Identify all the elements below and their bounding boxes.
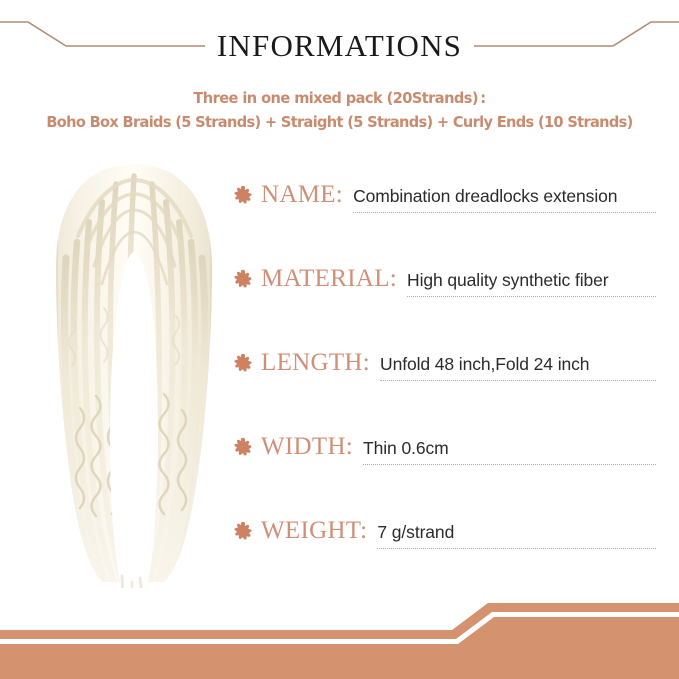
flower-bullet-icon (232, 352, 254, 374)
spec-label: MATERIAL: (261, 265, 397, 293)
spec-row-weight: WEIGHT: 7 g/strand (232, 516, 656, 600)
spec-row-length: LENGTH: Unfold 48 inch,Fold 24 inch (232, 348, 656, 432)
subtitle-line-2: Boho Box Braids (5 Strands) + Straight (… (20, 110, 658, 134)
spec-label: WEIGHT: (261, 517, 367, 545)
spec-value: Thin 0.6cm (363, 438, 449, 458)
specification-list: NAME: Combination dreadlocks extension M… (232, 180, 656, 600)
subtitle-block: Three in one mixed pack (20Strands) : Bo… (0, 86, 679, 134)
spec-value-underline: 7 g/strand (377, 522, 656, 549)
page-title: INFORMATIONS (0, 28, 679, 64)
spec-value: 7 g/strand (377, 522, 454, 542)
spec-row-material: MATERIAL: High quality synthetic fiber (232, 264, 656, 348)
spec-value-underline: High quality synthetic fiber (407, 270, 656, 297)
spec-label: NAME: (261, 181, 343, 209)
spec-value: Combination dreadlocks extension (353, 186, 617, 206)
spec-value: Unfold 48 inch,Fold 24 inch (380, 354, 589, 374)
spec-value-underline: Thin 0.6cm (363, 438, 656, 465)
spec-row-width: WIDTH: Thin 0.6cm (232, 432, 656, 516)
flower-bullet-icon (232, 520, 254, 542)
spec-value-underline: Combination dreadlocks extension (353, 186, 656, 213)
spec-value-underline: Unfold 48 inch,Fold 24 inch (380, 354, 656, 381)
spec-label: WIDTH: (261, 433, 353, 461)
subtitle-line-1: Three in one mixed pack (20Strands) : (20, 86, 658, 110)
footer-stripe-main (0, 617, 679, 679)
footer-decoration-band (0, 589, 679, 679)
product-photo-hair-extension (36, 158, 232, 588)
spec-value: High quality synthetic fiber (407, 270, 608, 290)
spec-label: LENGTH: (261, 349, 370, 377)
flower-bullet-icon (232, 436, 254, 458)
spec-row-name: NAME: Combination dreadlocks extension (232, 180, 656, 264)
flower-bullet-icon (232, 184, 254, 206)
flower-bullet-icon (232, 268, 254, 290)
